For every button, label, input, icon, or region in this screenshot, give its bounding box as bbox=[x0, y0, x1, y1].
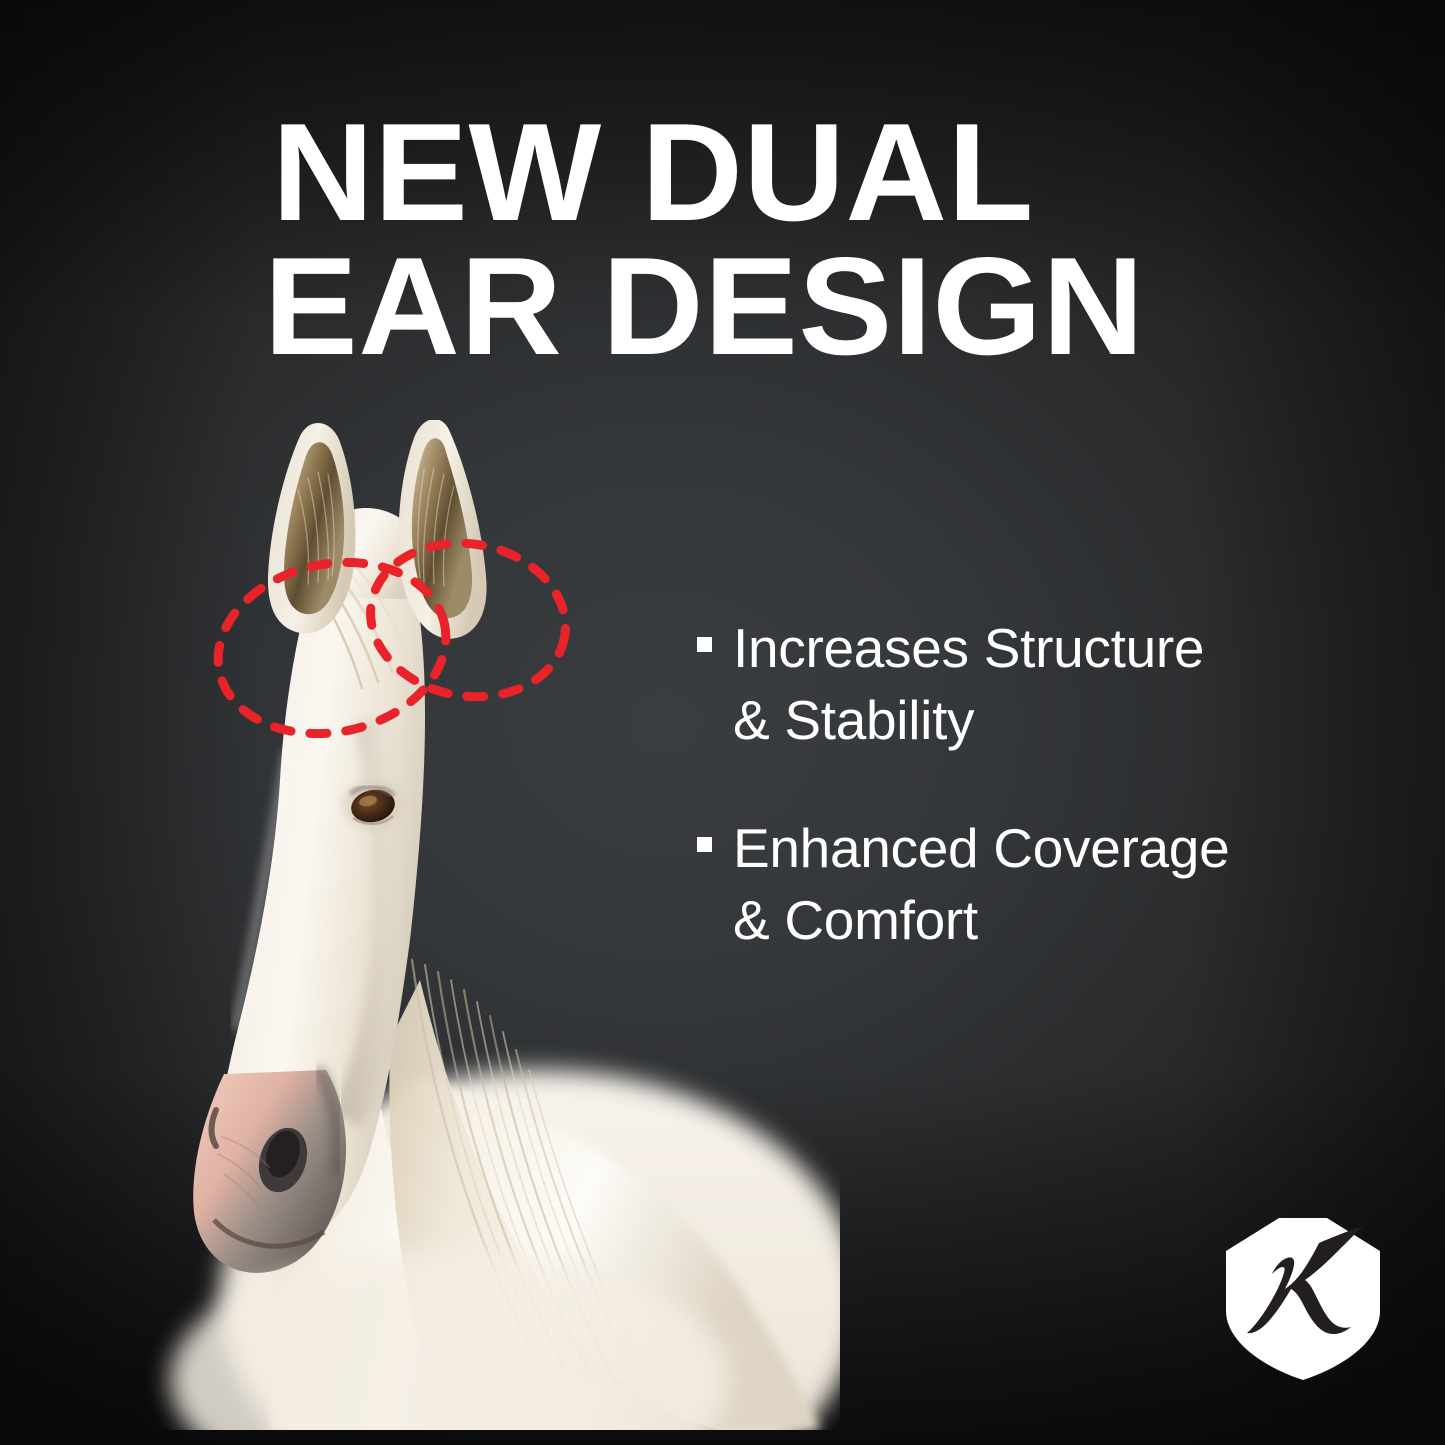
feature-text: Increases Structure & Stability bbox=[733, 612, 1204, 756]
poster-canvas: NEW DUAL EAR DESIGN Increases Structure … bbox=[0, 0, 1445, 1445]
list-item: Increases Structure & Stability bbox=[697, 612, 1377, 756]
headline: NEW DUAL EAR DESIGN bbox=[272, 106, 1213, 374]
feature-list: Increases Structure & Stability Enhanced… bbox=[697, 612, 1377, 1012]
feature-text: Enhanced Coverage & Comfort bbox=[733, 812, 1229, 956]
callout-ellipse-left bbox=[202, 542, 462, 754]
headline-line-2: EAR DESIGN bbox=[264, 240, 1213, 374]
square-bullet-icon bbox=[697, 837, 712, 852]
headline-line-1: NEW DUAL bbox=[272, 106, 1213, 240]
shield-k-logo bbox=[1223, 1215, 1383, 1383]
list-item: Enhanced Coverage & Comfort bbox=[697, 812, 1377, 956]
square-bullet-icon bbox=[697, 637, 712, 652]
callout-ellipse-right bbox=[358, 528, 577, 712]
